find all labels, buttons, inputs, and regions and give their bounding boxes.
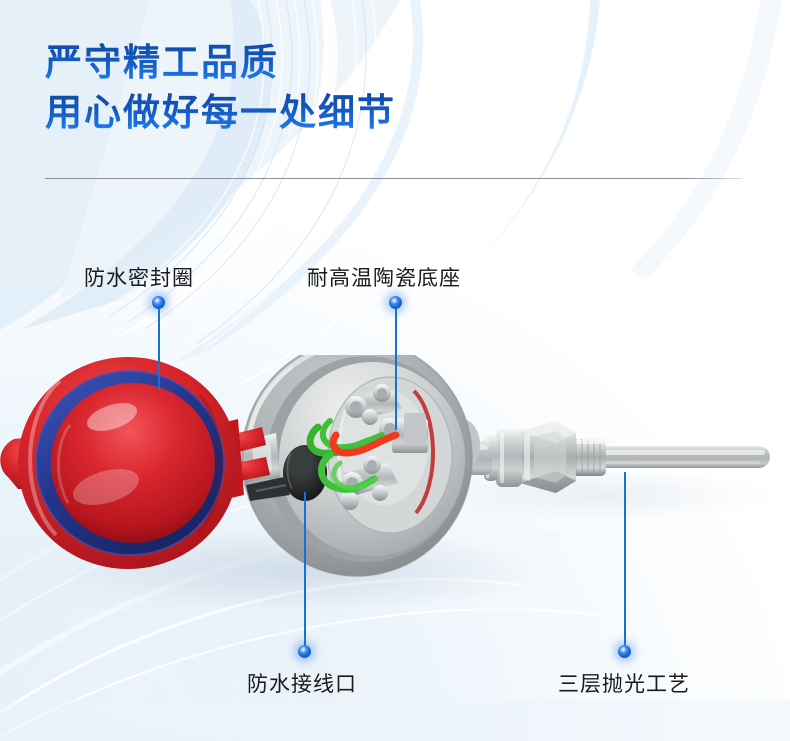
callout-label-waterproof-wiring-port: 防水接线口 (247, 668, 357, 698)
callout-line-waterproof-seal-ring (158, 308, 160, 390)
callout-line-waterproof-wiring-port (304, 492, 306, 647)
callout-line-three-layer-polishing (624, 472, 626, 647)
callout-dot-high-temp-ceramic-base (389, 296, 402, 309)
callout-label-waterproof-seal-ring: 防水密封圈 (84, 262, 194, 292)
callout-dot-three-layer-polishing (618, 645, 631, 658)
promo-banner: 严守精工品质 用心做好每一处细节 (0, 0, 790, 741)
callout-label-three-layer-polishing: 三层抛光工艺 (558, 668, 690, 698)
callout-dot-waterproof-seal-ring (152, 296, 165, 309)
headline-divider (45, 178, 743, 179)
callout-label-high-temp-ceramic-base: 耐高温陶瓷底座 (307, 262, 461, 292)
polished-probe-rod (596, 446, 770, 468)
headline-line-1: 严守精工品质 (45, 38, 745, 88)
headline-block: 严守精工品质 用心做好每一处细节 (45, 38, 745, 138)
hex-nut (520, 421, 576, 493)
callout-dot-waterproof-wiring-port (298, 645, 311, 658)
headline-line-2: 用心做好每一处细节 (45, 88, 745, 138)
callout-line-high-temp-ceramic-base (395, 308, 397, 430)
